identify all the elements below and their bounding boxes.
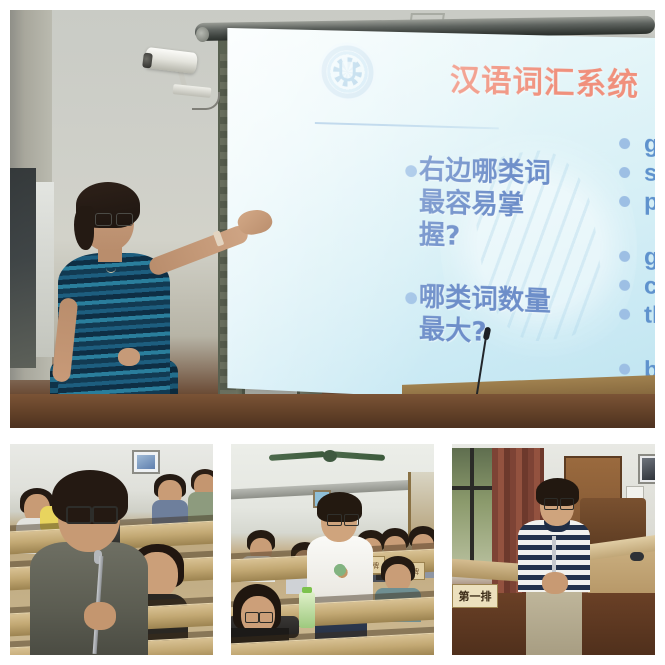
speaker-hand: [84, 602, 116, 630]
wall-picture-frame: [132, 450, 160, 474]
slide-left-bullet-column: 右边哪类词最容易掌握? 哪类词数量最大?: [405, 154, 601, 384]
slide-bullet-item: 右边哪类词最容易掌握?: [405, 154, 601, 259]
slide-bullet-text: 哪类词数量最大?: [419, 282, 566, 353]
slide-bullet-item: tha: [619, 300, 655, 334]
audience-eyeglasses: [245, 612, 273, 621]
photo-collage: 汉语词汇系统 右边哪类词最容易掌握? 哪类词数量最大? ga: [0, 0, 665, 665]
ceiling-fan-icon: [323, 450, 337, 462]
bullet-dot-icon: [619, 196, 630, 207]
bullet-dot-icon: [405, 165, 417, 177]
tshirt-graphic: [329, 560, 351, 580]
wall-dark-panel: [10, 168, 36, 368]
slide-right-bullet-column: ga sin pic go: [619, 129, 655, 408]
presenter-necklace: [106, 263, 116, 273]
slide-bullet-text: tha: [644, 301, 655, 330]
window-mullion: [470, 448, 474, 568]
presenter-hair-side: [74, 206, 94, 250]
bullet-dot-icon: [619, 167, 630, 178]
bullet-dot-icon: [619, 138, 630, 149]
slide-bullet-text: sin: [644, 159, 655, 188]
water-bottle: [299, 592, 315, 628]
slide-bullet-text: 右边哪类词最容易掌握?: [419, 155, 566, 258]
speaker-eyeglasses: [66, 506, 118, 520]
student-eyeglasses: [327, 514, 359, 524]
bullet-dot-icon: [619, 363, 630, 374]
slide-bullet-text: go: [644, 243, 655, 272]
slide-bullet-item: pic: [619, 187, 655, 220]
classroom-window: [452, 448, 494, 568]
slide-title: 汉语词汇系统: [450, 55, 639, 105]
computer-mouse: [630, 552, 644, 561]
slide-bullet-group: ga sin pic: [619, 129, 655, 220]
bullet-dot-icon: [619, 280, 630, 291]
university-emblem-icon: [319, 42, 377, 102]
classroom-floor: [10, 394, 655, 428]
emblem-monogram: [339, 62, 355, 82]
slide-bullet-text: pic: [644, 188, 655, 217]
speaker-hand: [542, 572, 568, 594]
projection-screen: 汉语词汇系统 右边哪类词最容易掌握? 哪类词数量最大? ga: [227, 28, 655, 408]
presenter-lower-hand: [118, 348, 140, 366]
window-mullion: [452, 486, 494, 490]
bullet-dot-icon: [619, 251, 630, 262]
speaker-trousers: [526, 588, 582, 655]
slide-bullet-item: ga: [619, 129, 655, 162]
presenter-eyeglasses: [95, 213, 133, 224]
bullet-dot-icon: [619, 309, 630, 320]
security-camera-lens: [142, 53, 153, 69]
speaker-eyeglasses: [544, 498, 574, 508]
photo-student-standing-question: 名牌 名牌: [231, 444, 434, 655]
slide-bullet-item: 哪类词数量最大?: [405, 281, 601, 354]
slide-bullet-group: go cle tha: [619, 242, 655, 334]
wall-light-panel: [36, 182, 54, 357]
photo-speaker-at-lectern: 第一排: [452, 444, 655, 655]
speaker-torso: [30, 542, 148, 655]
wall-picture-frame: [638, 454, 655, 484]
bullet-dot-icon: [405, 292, 417, 304]
slide-bullet-item: sin: [619, 158, 655, 191]
main-photo-lecturer: 汉语词汇系统 右边哪类词最容易掌握? 哪类词数量最大? ga: [10, 10, 655, 428]
slide-bullet-text: cle: [644, 272, 655, 301]
slide-bullet-text: ga: [644, 130, 655, 159]
row-number-sign: 第一排: [452, 584, 498, 608]
roller-end-cap: [196, 27, 209, 42]
slide-title-rule: [315, 122, 499, 129]
photo-audience-member-with-microphone: [10, 444, 213, 655]
